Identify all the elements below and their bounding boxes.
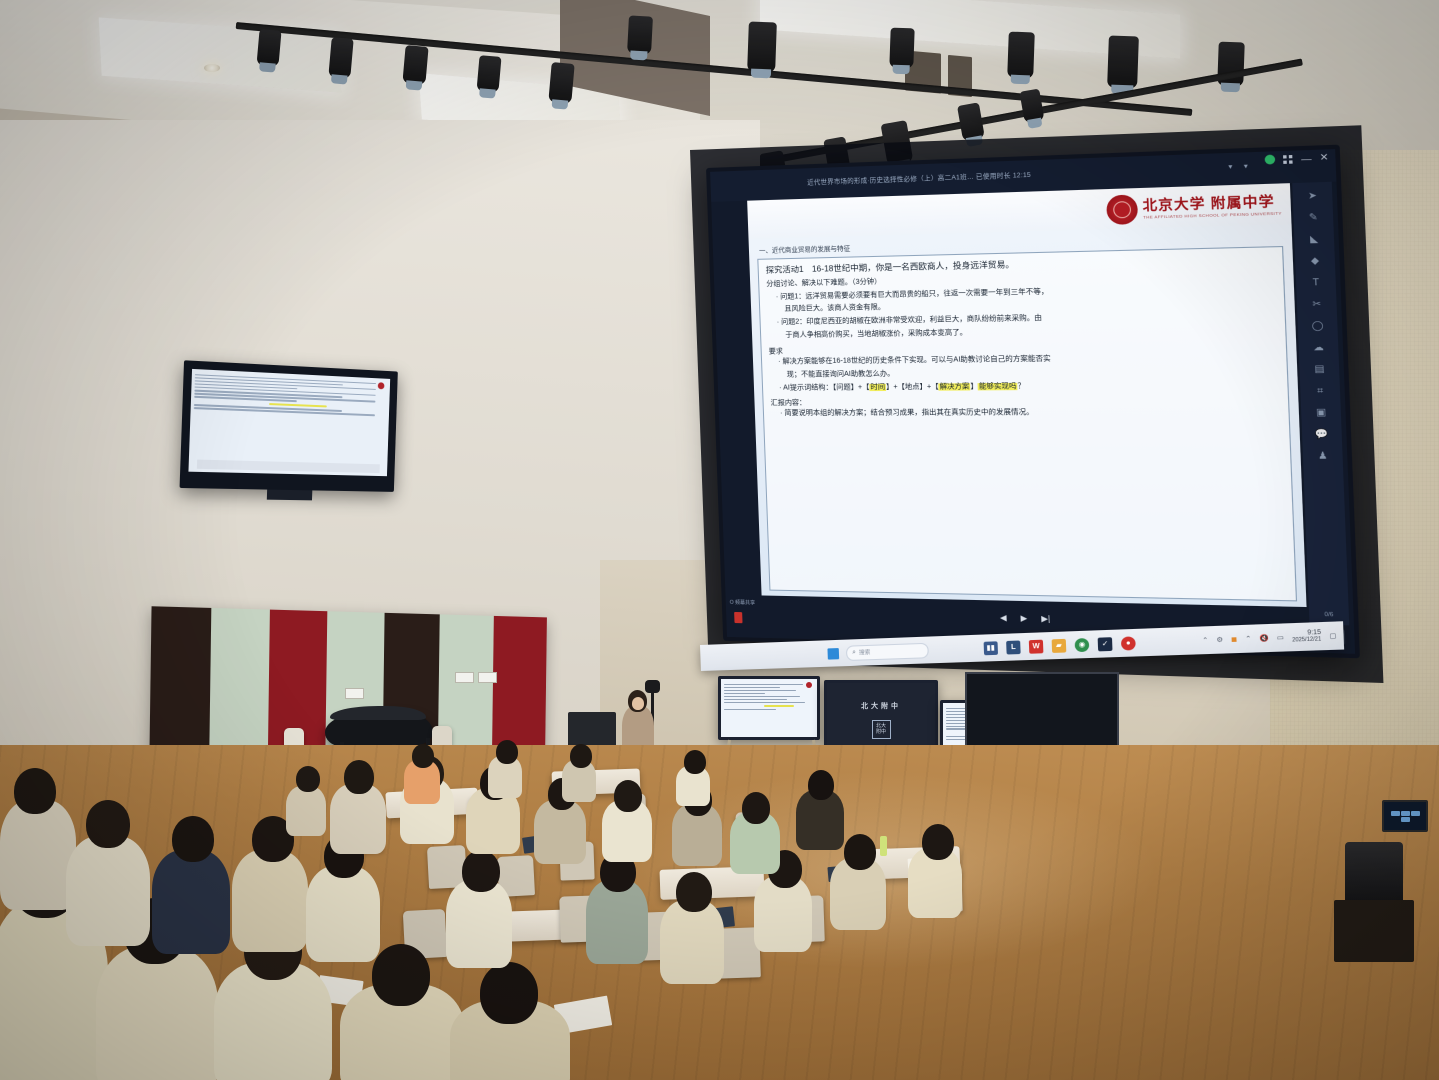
cursor-icon[interactable]: ➤ — [1308, 191, 1317, 201]
window-controls[interactable]: — ✕ — [1265, 152, 1329, 166]
highlighter-icon[interactable]: ◣ — [1310, 234, 1318, 244]
prompt-mid: 】+【地点】+【 — [886, 383, 939, 391]
eb-line — [724, 690, 796, 691]
av-control-panel[interactable] — [1382, 800, 1428, 832]
more-icon[interactable]: ▾ — [1244, 162, 1248, 171]
ruler-icon[interactable]: ⌗ — [1317, 386, 1323, 396]
taskbar-apps[interactable]: ▮▮ L W ▰ ◉ ✓ ● — [984, 636, 1136, 655]
prompt-hl-feasible: 能够实现吗 — [978, 382, 1018, 390]
clock-date: 2025/12/21 — [1292, 637, 1321, 644]
eb-line — [724, 699, 787, 700]
easel-left-screen — [721, 679, 817, 737]
speaker-cabinet — [1334, 900, 1414, 962]
blackboard — [965, 672, 1119, 748]
recording-indicator — [1265, 155, 1276, 165]
cloud-icon[interactable]: ☁ — [1313, 343, 1324, 353]
student-head — [462, 850, 500, 892]
wall-monitor-left[interactable] — [180, 360, 398, 492]
wifi-icon[interactable]: ⌃ — [1245, 634, 1252, 643]
grid-icon[interactable] — [1284, 154, 1294, 163]
student-head — [172, 816, 214, 862]
student-head — [570, 744, 592, 768]
people-icon[interactable]: ♟ — [1318, 451, 1328, 461]
prompt-tail: ？ — [1017, 382, 1025, 389]
eb-line — [724, 687, 780, 688]
student-body — [586, 880, 648, 964]
eb-line — [724, 696, 800, 697]
student-body — [330, 784, 386, 854]
wall-sign-a — [345, 688, 364, 699]
floor-speaker — [1345, 842, 1403, 904]
slide-body: 一、近代商业贸易的发展与特征 探究活动1 16-18世纪中期，你是一名西欧商人，… — [749, 224, 1307, 607]
student-head — [614, 780, 642, 812]
easel-seal-icon — [806, 682, 812, 688]
student-head — [808, 770, 834, 800]
tray-icon[interactable]: ⚙ — [1216, 635, 1223, 644]
text-icon[interactable]: T — [1312, 278, 1319, 288]
panel-button[interactable] — [1411, 811, 1420, 816]
monitor-pku-seal-icon — [378, 382, 385, 389]
prev-slide-button[interactable]: ◀ — [1000, 612, 1007, 622]
easel-board-left[interactable] — [718, 676, 820, 740]
record-app-icon[interactable]: ● — [1121, 636, 1136, 650]
student-head — [844, 834, 876, 870]
student-body — [0, 800, 76, 910]
spotlight-u3 — [402, 45, 428, 85]
titlebar-mini-tools[interactable]: ▾ ▾ — [1228, 162, 1248, 171]
student-head — [742, 792, 770, 824]
wall-sign-b — [455, 672, 474, 683]
downlight-1 — [204, 64, 220, 72]
panel-button[interactable] — [1401, 811, 1410, 816]
prompt-prefix: · AI提示词结构：【问题】+【 — [779, 384, 869, 392]
pku-seal-icon — [1106, 194, 1138, 224]
explorer-app-icon[interactable]: L — [1006, 640, 1021, 654]
spotlight-u2 — [328, 37, 353, 79]
stats-app-icon[interactable]: ▮▮ — [984, 641, 998, 655]
thumbnail-count: 0/6 — [1309, 611, 1349, 618]
monitor-taskbar — [197, 460, 380, 474]
eb-line — [724, 702, 805, 703]
system-tray[interactable]: ⌃ ⚙ ◼ ⌃ 🔇 ▭ 9:15 2025/12/21 ▢ — [1202, 629, 1337, 647]
eraser-icon[interactable]: ◆ — [1311, 256, 1319, 266]
note-icon[interactable]: ▣ — [1316, 408, 1326, 418]
wall-sign-c — [478, 672, 497, 683]
record-badge-icon — [734, 612, 742, 623]
student-body — [152, 850, 230, 954]
student-head — [684, 750, 706, 774]
microphone-head-icon — [645, 680, 660, 693]
piano-lid — [330, 706, 426, 720]
play-button[interactable]: ▶ — [1020, 613, 1027, 623]
spotlight-u7 — [747, 22, 777, 73]
pen-icon[interactable]: ✎ — [1309, 213, 1318, 223]
files-app-icon[interactable]: ▰ — [1052, 638, 1067, 652]
student-head — [86, 800, 130, 848]
student-head — [922, 824, 954, 860]
spotlight-u4 — [476, 55, 501, 93]
panel-button[interactable] — [1401, 817, 1410, 822]
clock[interactable]: 9:15 2025/12/21 — [1292, 629, 1322, 644]
chrome-app-icon[interactable]: ◉ — [1075, 637, 1090, 651]
spotlight-u5 — [548, 62, 574, 104]
water-bottle — [880, 836, 887, 856]
spotlight-u9 — [1007, 32, 1035, 79]
eb-line — [724, 693, 765, 694]
requirement-line: 现；不能直接询问AI助教怎么办。 — [769, 366, 1279, 382]
classroom-scene: 近代世界市场的形成·历史选择性必修（上）高二A1班… 已使用时长 12:15 ▾… — [0, 0, 1439, 1080]
student-head — [344, 760, 374, 794]
search-input[interactable]: ⌕ 搜索 — [846, 642, 929, 660]
prompt-hl-solution: 解决方案 — [939, 383, 971, 390]
prompt-hl-time: 时间 — [869, 383, 886, 390]
spotlight-u6 — [627, 15, 653, 54]
student-body — [96, 946, 218, 1080]
student-head — [496, 740, 518, 764]
board-icon[interactable]: ▤ — [1314, 364, 1324, 374]
panel-button[interactable] — [1391, 811, 1400, 816]
presenter-face — [632, 697, 644, 710]
search-placeholder: 搜索 — [859, 648, 871, 657]
student-body — [286, 786, 326, 836]
share-icon[interactable]: ▾ — [1228, 163, 1232, 172]
spotlight-u8 — [889, 28, 914, 69]
screen-content: 近代世界市场的形成·历史选择性必修（上）高二A1班… 已使用时长 12:15 ▾… — [710, 149, 1355, 654]
student-head — [480, 962, 538, 1024]
next-slide-button[interactable]: ▶| — [1041, 613, 1050, 623]
scissors-icon[interactable]: ✂ — [1312, 299, 1321, 309]
student-head — [676, 872, 712, 912]
lasso-icon[interactable]: ◯ — [1312, 321, 1324, 331]
prompt-structure-line: · AI提示词结构：【问题】+【时间】+【地点】+【解决方案】能够实现吗？ — [770, 379, 1280, 394]
spotlight-u10 — [1107, 35, 1139, 88]
battery-icon[interactable]: ▭ — [1277, 633, 1284, 642]
wps-writer-icon[interactable]: W — [1029, 639, 1044, 653]
student-body — [446, 880, 512, 968]
start-button[interactable] — [827, 648, 839, 660]
projection-screen[interactable]: 近代世界市场的形成·历史选择性必修（上）高二A1班… 已使用时长 12:15 ▾… — [706, 145, 1360, 659]
chevron-up-icon[interactable]: ⌃ — [1202, 636, 1209, 645]
action-center-icon[interactable]: ▢ — [1329, 631, 1337, 640]
meeting-app-icon[interactable]: ✓ — [1098, 637, 1113, 651]
minimize-button[interactable]: — — [1301, 153, 1312, 164]
share-status-label: O 频幕共享 — [730, 598, 756, 606]
window-title: 近代世界市场的形成·历史选择性必修（上）高二A1班… 已使用时长 12:15 — [807, 170, 1031, 187]
student-body — [232, 850, 308, 952]
wall-monitor-screen — [188, 369, 390, 476]
student-body — [66, 836, 150, 946]
comment-icon[interactable]: 💬 — [1315, 429, 1328, 439]
student-head — [14, 768, 56, 814]
student-head — [372, 944, 430, 1006]
search-icon: ⌕ — [852, 649, 856, 656]
eb-line — [724, 709, 776, 710]
slide-textbox: 探究活动1 16-18世纪中期，你是一名西欧商人，投身远洋贸易。 分组讨论、解决… — [757, 246, 1297, 601]
eb-highlight — [764, 705, 795, 707]
close-button[interactable]: ✕ — [1319, 152, 1328, 164]
student-body — [660, 900, 724, 984]
monitor-stand — [267, 490, 313, 501]
easel-brand-text: 北大附中 — [861, 701, 901, 711]
report-line: · 简要说明本组的解决方案；结合预习成果，指出其在真实历史中的发展情况。 — [771, 407, 1281, 420]
spotlight-u1 — [256, 29, 281, 67]
report-label: 汇报内容： — [770, 395, 1280, 408]
student-head — [412, 744, 434, 768]
notify-icon[interactable]: ◼ — [1231, 635, 1238, 644]
student-body — [306, 866, 380, 962]
student-head — [296, 766, 320, 792]
school-name: 北京大学 附属中学 — [1142, 194, 1281, 212]
easel-brand-mark: 北大附中 — [872, 720, 891, 739]
eb-line — [724, 684, 803, 685]
volume-muted-icon[interactable]: 🔇 — [1259, 634, 1269, 643]
